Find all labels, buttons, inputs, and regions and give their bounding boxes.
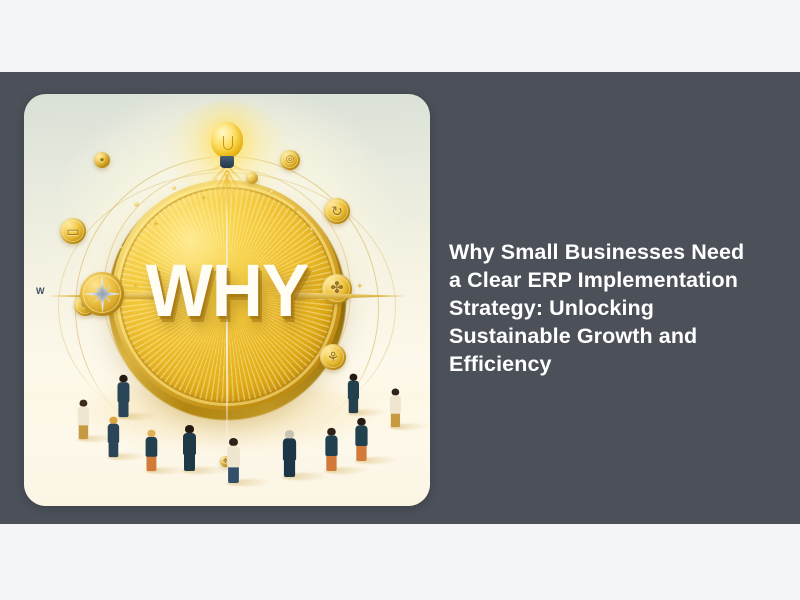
figure-7-hair xyxy=(284,430,293,438)
figure-8 xyxy=(324,429,337,472)
figure-1 xyxy=(77,400,89,440)
figure-10-hair xyxy=(349,374,357,381)
figure-7 xyxy=(282,431,296,478)
figure-11-hair xyxy=(391,389,399,396)
figure-8-legs xyxy=(326,454,336,471)
coin-briefcase-icon: ▭ xyxy=(60,218,86,244)
coin-bulb-glyph: ● xyxy=(100,156,105,164)
figure-5-torso xyxy=(183,433,196,455)
lightbulb-icon xyxy=(210,122,244,174)
figure-8-hair xyxy=(327,428,335,436)
figure-11-torso xyxy=(390,395,401,413)
figure-6-legs xyxy=(228,465,239,483)
coin-briefcase-glyph: ▭ xyxy=(66,224,79,238)
article-illustration-card[interactable]: WHY W ▭✸●◎↻✤⚘·❖ ✦✦✦✦✦ xyxy=(24,94,430,506)
figure-11 xyxy=(389,389,401,428)
figure-3-hair xyxy=(109,417,117,424)
figure-4-legs xyxy=(146,455,156,471)
figure-9-legs xyxy=(356,444,366,461)
coin-refresh-glyph: ↻ xyxy=(331,204,343,218)
figure-9-hair xyxy=(357,418,365,426)
figure-2 xyxy=(117,376,130,418)
figure-2-torso xyxy=(117,382,129,402)
floating-speck-6 xyxy=(120,246,123,249)
figure-9 xyxy=(354,419,367,462)
floating-speck-1 xyxy=(134,202,139,207)
figure-1-hair xyxy=(79,400,87,407)
figure-3-legs xyxy=(108,441,118,457)
coin-wheat-glyph: ⚘ xyxy=(327,350,340,364)
figure-1-legs xyxy=(78,424,87,439)
article-title: Why Small Businesses Need a Clear ERP Im… xyxy=(449,238,761,378)
coin-refresh-icon: ↻ xyxy=(324,198,350,224)
why-wordmark: WHY xyxy=(32,254,422,328)
figure-6-torso xyxy=(227,446,240,468)
bulb-base xyxy=(220,156,234,168)
figure-6-hair xyxy=(229,438,238,446)
page-root: WHY W ▭✸●◎↻✤⚘·❖ ✦✦✦✦✦ Why Small Business… xyxy=(0,0,800,600)
figure-2-hair xyxy=(119,375,127,382)
figure-11-legs xyxy=(390,412,399,427)
figure-8-torso xyxy=(325,435,337,456)
figure-5-legs xyxy=(184,453,195,471)
bulb-ray-5 xyxy=(226,178,228,216)
figure-4-hair xyxy=(147,430,155,437)
coin-wheat-icon: ⚘ xyxy=(320,344,346,370)
figure-7-torso xyxy=(282,438,295,460)
figure-10-torso xyxy=(347,380,358,399)
figure-5 xyxy=(182,426,196,472)
bulb-filament xyxy=(223,136,233,150)
figure-2-legs xyxy=(118,401,128,418)
figure-5-hair xyxy=(185,425,194,433)
figure-4 xyxy=(145,431,158,472)
figure-10 xyxy=(347,374,359,414)
figure-10-legs xyxy=(348,398,357,413)
sparkle-1: ✦ xyxy=(152,220,160,229)
figure-9-torso xyxy=(355,425,367,446)
figure-1-torso xyxy=(77,406,88,425)
figure-3 xyxy=(107,418,119,458)
figure-6 xyxy=(226,439,240,484)
figure-4-torso xyxy=(145,437,157,457)
figure-3-torso xyxy=(107,424,118,443)
sparkle-3: ✦ xyxy=(292,206,300,215)
illustration-scene: WHY W ▭✸●◎↻✤⚘·❖ ✦✦✦✦✦ xyxy=(24,94,430,506)
coin-bulb-icon: ● xyxy=(94,152,110,168)
figure-7-legs xyxy=(283,459,294,477)
floating-speck-5 xyxy=(310,228,313,231)
